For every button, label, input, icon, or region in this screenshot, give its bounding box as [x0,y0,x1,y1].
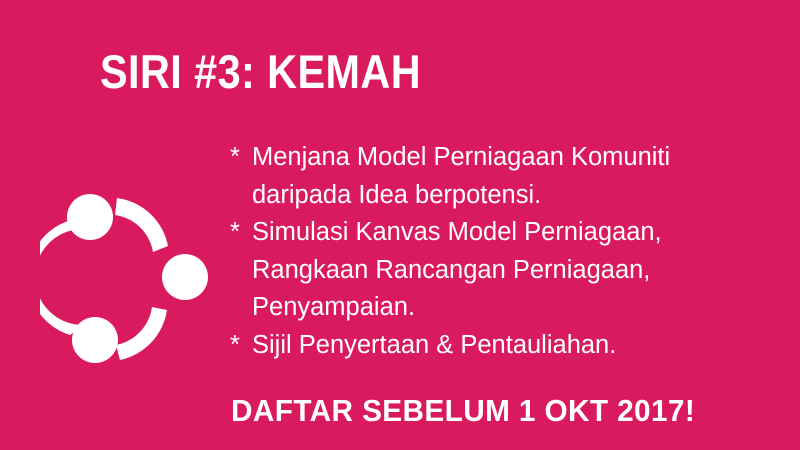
promo-poster: SIRI #3: KEMAH *Menjana Model Perniagaan… [0,0,800,450]
bullet-text: Simulasi Kanvas Model Perniagaan, [252,218,662,246]
list-item: *Simulasi Kanvas Model Perniagaan, [230,214,790,252]
bullet-text-continuation: daripada Idea berpotensi. [230,177,790,215]
logo-node-bottom-left [72,317,118,363]
bullet-text-continuation: Penyampaian. [230,289,790,327]
bullet-marker: * [230,327,252,365]
bullet-list: *Menjana Model Perniagaan Komuniti darip… [230,139,790,364]
call-to-action-text: DAFTAR SEBELUM 1 OKT 2017! [231,393,695,429]
bullet-marker: * [230,214,252,252]
logo-arc-top-right [115,198,168,252]
logo-node-top-left [67,194,113,240]
logo-arc-left [40,221,84,335]
logo-arc-bottom-right [116,307,167,360]
circle-of-friends-logo [40,182,220,372]
list-item: *Menjana Model Perniagaan Komuniti [230,139,790,177]
logo-node-right [162,254,208,300]
bullet-text-continuation: Rangkaan Rancangan Perniagaan, [230,252,790,290]
bullet-text: Menjana Model Perniagaan Komuniti [252,143,670,171]
list-item: *Sijil Penyertaan & Pentauliahan. [230,327,790,365]
bullet-text: Sijil Penyertaan & Pentauliahan. [252,331,616,359]
bullet-marker: * [230,139,252,177]
page-title: SIRI #3: KEMAH [100,47,421,96]
